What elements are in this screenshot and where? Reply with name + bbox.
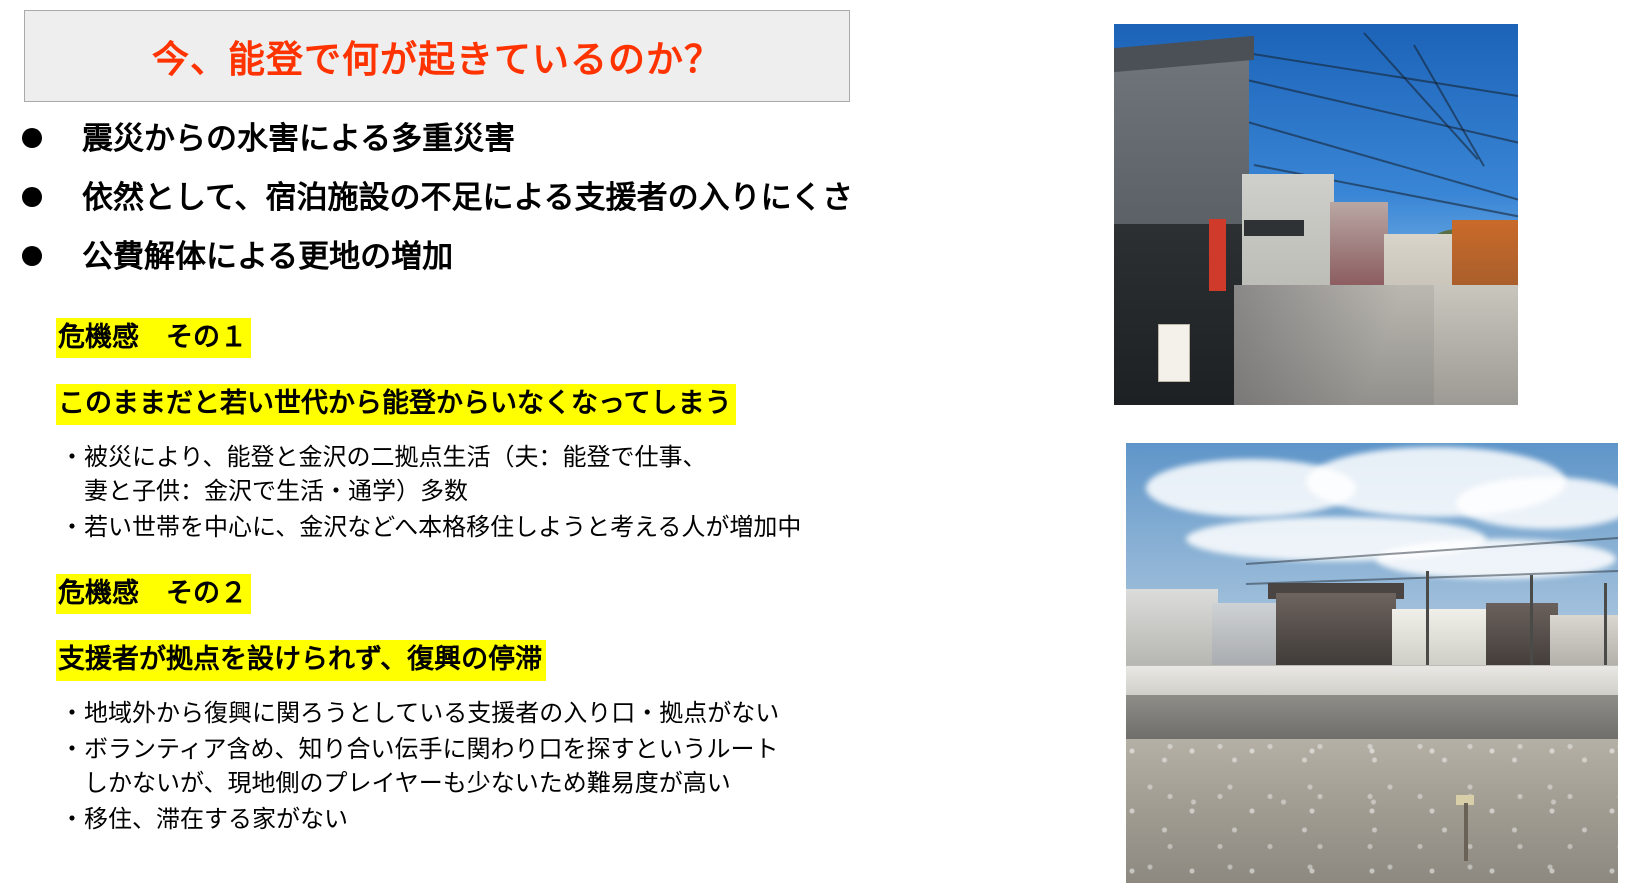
bullet-dot-icon [22, 246, 42, 266]
shop-sign [1244, 220, 1304, 236]
asphalt-strip [1126, 695, 1618, 739]
bullet-dot-icon [22, 187, 42, 207]
section-crisis-1: 危機感 その１ このままだと若い世代から能登からいなくなってしまう ・被災により… [56, 318, 1056, 545]
bullet-list: 震災からの水害による多重災害 依然として、宿泊施設の不足による支援者の入りにくさ… [22, 120, 1032, 298]
building-left [1212, 603, 1284, 665]
section-detail: ・被災により、能登と金沢の二拠点生活（夫：能登で仕事、 妻と子供：金沢で生活・通… [60, 441, 1056, 509]
section-headline: 支援者が拠点を設けられず、復興の停滞 [56, 640, 546, 680]
photo-vacant-lot-after-demolition [1126, 443, 1618, 883]
page-title: 今、能登で何が起きているのか？ [152, 29, 722, 83]
list-item: 震災からの水害による多重災害 [22, 120, 1032, 157]
section-detail: ・移住、滞在する家がない [60, 803, 1056, 837]
photo-street-with-damaged-buildings [1114, 24, 1518, 405]
survey-stake [1464, 803, 1468, 861]
gravel-lot [1126, 739, 1618, 883]
list-item: 依然として、宿泊施設の不足による支援者の入りにくさ [22, 179, 1032, 216]
slide-title-box: 今、能登で何が起きているのか？ [24, 10, 850, 102]
building-far-left [1126, 589, 1218, 665]
utility-pole [1530, 575, 1533, 671]
utility-pole [1426, 571, 1429, 671]
red-banner [1209, 219, 1226, 291]
section-label: 危機感 その１ [56, 318, 251, 358]
road-shadow [1234, 285, 1434, 405]
house-center [1276, 593, 1396, 669]
section-headline: このままだと若い世代から能登からいなくなってしまう [56, 384, 736, 424]
white-signboard [1158, 324, 1190, 382]
list-item: 公費解体による更地の増加 [22, 238, 1032, 275]
section-crisis-2: 危機感 その２ 支援者が拠点を設けられず、復興の停滞 ・地域外から復興に関ろうと… [56, 574, 1056, 837]
bullet-label: 依然として、宿泊施設の不足による支援者の入りにくさ [82, 179, 853, 216]
bullet-label: 震災からの水害による多重災害 [82, 120, 515, 157]
fence [1126, 665, 1618, 698]
utility-pole [1604, 583, 1607, 671]
bullet-dot-icon [22, 128, 42, 148]
section-detail: ・ボランティア含め、知り合い伝手に関わり口を探すというルート しかないが、現地側… [60, 733, 1056, 801]
house-center-right [1392, 609, 1498, 669]
house-right [1486, 603, 1558, 669]
section-detail: ・若い世帯を中心に、金沢などへ本格移住しようと考える人が増加中 [60, 511, 1056, 545]
house-far-right [1550, 615, 1618, 669]
bullet-label: 公費解体による更地の増加 [82, 238, 453, 275]
section-detail: ・地域外から復興に関ろうとしている支援者の入り口・拠点がない [60, 697, 1056, 731]
section-label: 危機感 その２ [56, 574, 251, 614]
